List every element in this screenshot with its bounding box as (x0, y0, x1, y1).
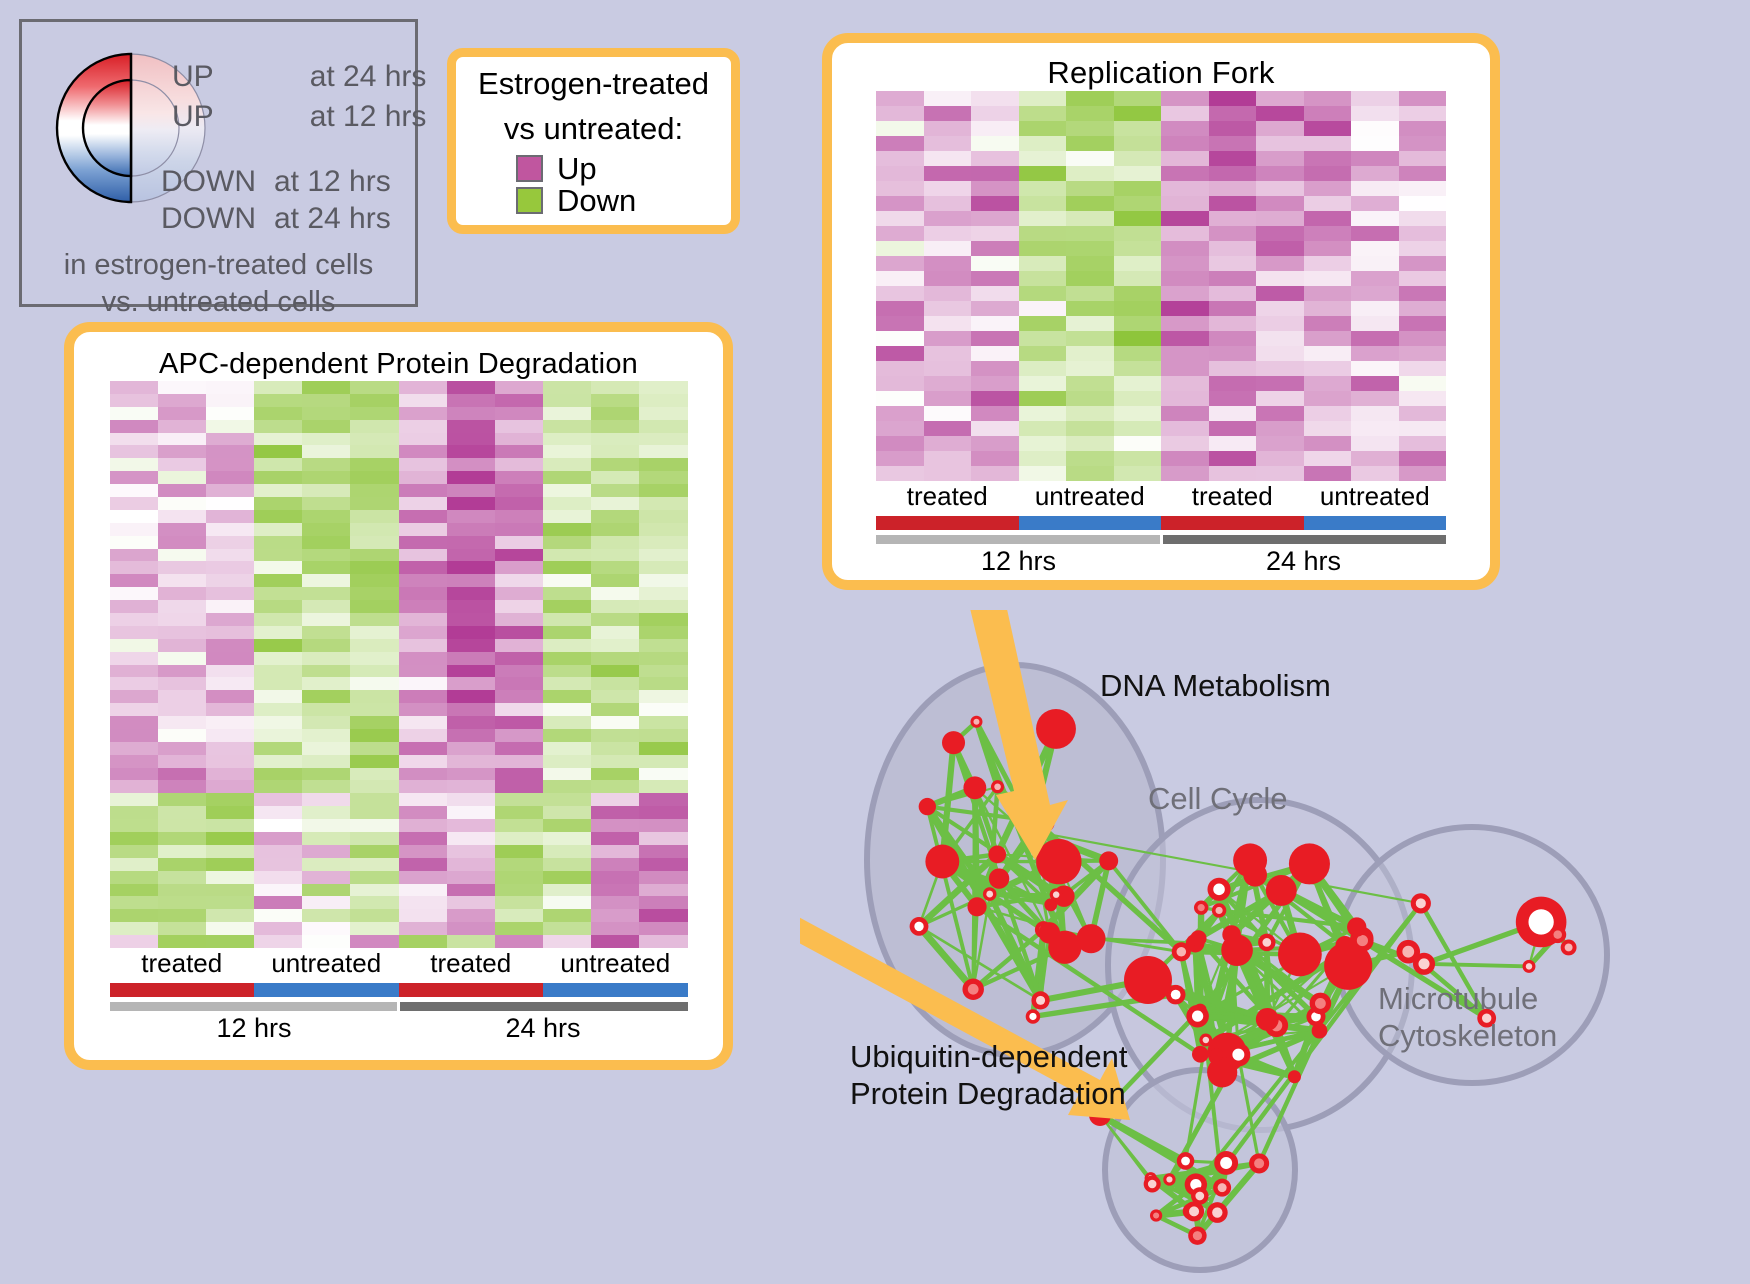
heatmap-cell (254, 420, 302, 433)
heatmap-cell (206, 523, 254, 536)
heatmap-cell (254, 896, 302, 909)
heatmap-cell (447, 716, 495, 729)
heatmap-cell (1066, 331, 1114, 346)
heatmap-cell (639, 935, 687, 948)
heatmap-cell (399, 652, 447, 665)
heatmap-cell (110, 652, 158, 665)
heatmap-cell (924, 421, 972, 436)
heatmap-cell (206, 626, 254, 639)
heatmap-cell (399, 703, 447, 716)
heatmap-cell (254, 510, 302, 523)
heatmap-cell (971, 301, 1019, 316)
heatmap-cell (1161, 331, 1209, 346)
heatmap-cell (1399, 136, 1447, 151)
heatmap-cell (158, 420, 206, 433)
heatmap-cell (350, 445, 398, 458)
heatmap-cell (158, 471, 206, 484)
heatmap-cell (924, 451, 972, 466)
heatmap-cell (350, 523, 398, 536)
heatmap-cell (639, 433, 687, 446)
heatmap-cell (1114, 91, 1162, 106)
heatmap-cell (924, 466, 972, 481)
heatmap-cell (1161, 91, 1209, 106)
heatmap-cell (302, 755, 350, 768)
heatmap-cell (495, 458, 543, 471)
heatmap-cell (1019, 226, 1067, 241)
heatmap-cell (1399, 211, 1447, 226)
heatmap-cell (110, 549, 158, 562)
heatmap-cell (399, 600, 447, 613)
heatmap-cell (302, 561, 350, 574)
heatmap-cell (1209, 391, 1257, 406)
heatmap-cell (158, 394, 206, 407)
heatmap-cell (110, 909, 158, 922)
heatmap-cell (350, 433, 398, 446)
heatmap-cell (876, 331, 924, 346)
heatmap-cell (1304, 301, 1352, 316)
heatmap-cell (158, 922, 206, 935)
network-node (988, 845, 1006, 863)
heatmap-apc-degradation (110, 381, 688, 948)
legend-term: DOWN (161, 165, 256, 199)
heatmap-cell (447, 510, 495, 523)
heatmap-cell (447, 806, 495, 819)
heatmap-cell (302, 665, 350, 678)
heatmap-cell (543, 639, 591, 652)
heatmap-cell (1256, 406, 1304, 421)
heatmap-cell (158, 523, 206, 536)
heatmap-cell (1066, 196, 1114, 211)
heatmap-cell (876, 451, 924, 466)
heatmap-cell (1351, 91, 1399, 106)
heatmap-cell (302, 806, 350, 819)
heatmap-cell (399, 484, 447, 497)
heatmap-cell (1399, 436, 1447, 451)
heatmap-cell (639, 600, 687, 613)
up-label: Up (557, 153, 597, 184)
heatmap-cell (543, 420, 591, 433)
heatmap-cell (1114, 451, 1162, 466)
heatmap-cell (447, 600, 495, 613)
heatmap-cell (1019, 151, 1067, 166)
heatmap-cell (971, 406, 1019, 421)
heatmap-cell (350, 536, 398, 549)
heatmap-cell (1019, 106, 1067, 121)
heatmap-cell (1351, 406, 1399, 421)
heatmap-cell (302, 729, 350, 742)
heatmap-cell (1114, 106, 1162, 121)
heatmap-cell (447, 549, 495, 562)
network-node (1288, 1070, 1301, 1083)
heatmap-cell (350, 729, 398, 742)
heatmap-cell (495, 677, 543, 690)
heatmap-cell (1304, 391, 1352, 406)
timepoint-label: 24 hrs (1161, 546, 1446, 577)
heatmap-cell (495, 871, 543, 884)
heatmap-cell (591, 536, 639, 549)
heatmap-cell (1304, 451, 1352, 466)
heatmap-cell (591, 471, 639, 484)
heatmap-cell (1161, 301, 1209, 316)
heatmap-cell (971, 331, 1019, 346)
heatmap-cell (1161, 151, 1209, 166)
heatmap-cell (1161, 181, 1209, 196)
heatmap-cell (399, 433, 447, 446)
heatmap-cell (1114, 436, 1162, 451)
heatmap-cell (591, 703, 639, 716)
heatmap-cell (495, 613, 543, 626)
heatmap-cell (639, 845, 687, 858)
heatmap-cell (495, 935, 543, 948)
heatmap-cell (591, 510, 639, 523)
heatmap-cell (591, 819, 639, 832)
legend-term: UP (172, 60, 214, 94)
heatmap-cell (447, 458, 495, 471)
heatmap-cell (302, 884, 350, 897)
network-node (1124, 956, 1172, 1004)
heatmap-cell (639, 665, 687, 678)
heatmap-cell (591, 755, 639, 768)
heatmap-cell (447, 832, 495, 845)
network-node (991, 780, 1004, 793)
heatmap-cell (110, 626, 158, 639)
heatmap-cell (1256, 166, 1304, 181)
legend-caption-line2: vs. untreated cells (22, 284, 415, 321)
heatmap-cell (591, 626, 639, 639)
network-node (1256, 1008, 1279, 1031)
network-node (1039, 922, 1061, 944)
heatmap-cell (254, 729, 302, 742)
heatmap-cell (543, 510, 591, 523)
heatmap-cell (1019, 331, 1067, 346)
heatmap-cell (447, 587, 495, 600)
heatmap-cell (1066, 301, 1114, 316)
heatmap-cell (971, 151, 1019, 166)
heatmap-cell (1066, 256, 1114, 271)
heatmap-cell (254, 497, 302, 510)
network-node (1396, 940, 1420, 964)
network-node (1036, 839, 1081, 884)
network-node (1258, 934, 1275, 951)
network-node (989, 868, 1009, 888)
heatmap-cell (495, 793, 543, 806)
heatmap-cell (206, 420, 254, 433)
heatmap-cell (254, 433, 302, 446)
heatmap-cell (543, 574, 591, 587)
heatmap-cell (1351, 316, 1399, 331)
heatmap-cell (543, 497, 591, 510)
heatmap-cell (495, 819, 543, 832)
heatmap-cell (495, 716, 543, 729)
heatmap-cell (254, 652, 302, 665)
heatmap-cell (206, 716, 254, 729)
heatmap-cell (350, 832, 398, 845)
heatmap-cell (350, 909, 398, 922)
heatmap-cell (1256, 361, 1304, 376)
cluster-label-microtubule-cytoskeleton: Microtubule Cytoskeleton (1378, 980, 1557, 1054)
heatmap-cell (1351, 346, 1399, 361)
heatmap-cell (302, 742, 350, 755)
heatmap-cell (971, 136, 1019, 151)
heatmap-cell (639, 587, 687, 600)
heatmap-cell (639, 381, 687, 394)
heatmap-cell (1399, 271, 1447, 286)
heatmap-cell (543, 768, 591, 781)
heatmap-cell (543, 703, 591, 716)
heatmap-cell (1399, 181, 1447, 196)
heatmap-cell (302, 394, 350, 407)
heatmap-cell (110, 884, 158, 897)
heatmap-cell (158, 665, 206, 678)
heatmap-cell (447, 780, 495, 793)
heatmap-cell (971, 226, 1019, 241)
heatmap-cell (1066, 91, 1114, 106)
heatmap-cell (1304, 241, 1352, 256)
heatmap-cell (254, 626, 302, 639)
heatmap-cell (110, 639, 158, 652)
heatmap-cell (591, 845, 639, 858)
heatmap-cell (302, 716, 350, 729)
heatmap-cell (876, 406, 924, 421)
heatmap-cell (399, 420, 447, 433)
heatmap-cell (447, 613, 495, 626)
network-node (967, 897, 986, 916)
heatmap-cell (206, 819, 254, 832)
heatmap-cell (110, 806, 158, 819)
key-item-down: Down (516, 185, 731, 216)
estrogen-treatment-key: Estrogen-treated vs untreated: Up Down (447, 48, 740, 234)
heatmap-cell (254, 806, 302, 819)
heatmap-cell (1019, 136, 1067, 151)
heatmap-cell (302, 703, 350, 716)
heatmap-cell (591, 716, 639, 729)
heatmap-cell (399, 458, 447, 471)
heatmap-cell (1399, 241, 1447, 256)
heatmap-cell (1256, 181, 1304, 196)
heatmap-cell (158, 549, 206, 562)
heatmap-cell (254, 600, 302, 613)
heatmap-cell (206, 471, 254, 484)
heatmap-cell (350, 845, 398, 858)
heatmap-cell (876, 361, 924, 376)
heatmap-cell (1351, 211, 1399, 226)
heatmap-cell (1114, 331, 1162, 346)
heatmap-cell (399, 381, 447, 394)
cluster-label-dna-metabolism: DNA Metabolism (1100, 668, 1331, 704)
heatmap-cell (543, 716, 591, 729)
heatmap-cell (158, 652, 206, 665)
heatmap-cell (350, 458, 398, 471)
panel-apc-dependent-protein-degradation: APC-dependent Protein Degradation treate… (64, 322, 733, 1070)
heatmap-cell (206, 497, 254, 510)
heatmap-cell (110, 458, 158, 471)
heatmap-cell (254, 445, 302, 458)
heatmap-cell (447, 845, 495, 858)
heatmap-cell (591, 871, 639, 884)
heatmap-cell (350, 871, 398, 884)
heatmap-cell (158, 832, 206, 845)
heatmap-cell (1066, 151, 1114, 166)
heatmap-cell (543, 884, 591, 897)
heatmap-cell (158, 677, 206, 690)
heatmap-cell (495, 652, 543, 665)
heatmap-cell (447, 626, 495, 639)
heatmap-cell (924, 106, 972, 121)
heatmap-cell (399, 394, 447, 407)
heatmap-cell (158, 793, 206, 806)
heatmap-cell (591, 909, 639, 922)
heatmap-cell (1209, 211, 1257, 226)
heatmap-cell (350, 755, 398, 768)
network-node (1523, 960, 1536, 973)
heatmap-cell (1066, 406, 1114, 421)
heatmap-cell (591, 549, 639, 562)
heatmap-cell (1256, 151, 1304, 166)
timepoint-bar (876, 535, 1160, 544)
heatmap-cell (924, 241, 972, 256)
network-node (1036, 709, 1076, 749)
heatmap-cell (543, 845, 591, 858)
heatmap-cell (399, 909, 447, 922)
heatmap-cell (254, 394, 302, 407)
heatmap-cell (110, 484, 158, 497)
heatmap-cell (1399, 361, 1447, 376)
heatmap-cell (1304, 286, 1352, 301)
heatmap-cell (399, 587, 447, 600)
heatmap-cell (1351, 436, 1399, 451)
heatmap-cell (110, 935, 158, 948)
heatmap-cell (591, 806, 639, 819)
condition-bar (399, 983, 544, 997)
heatmap-cell (543, 665, 591, 678)
heatmap-cell (206, 677, 254, 690)
heatmap-cell (447, 665, 495, 678)
network-node (1184, 1201, 1204, 1221)
heatmap-cell (206, 639, 254, 652)
heatmap-cell (495, 884, 543, 897)
heatmap-cell (1209, 256, 1257, 271)
down-color-swatch (516, 187, 543, 214)
heatmap-cell (971, 316, 1019, 331)
heatmap-cell (543, 896, 591, 909)
heatmap-cell (1256, 241, 1304, 256)
heatmap-cell (158, 768, 206, 781)
heatmap-cell (1209, 331, 1257, 346)
heatmap-cell (876, 91, 924, 106)
heatmap-cell (1114, 166, 1162, 181)
heatmap-cell (971, 436, 1019, 451)
network-node (1194, 900, 1208, 914)
heatmap-cell (1304, 151, 1352, 166)
network-node (1213, 1179, 1231, 1197)
heatmap-cell (1019, 286, 1067, 301)
network-node (1199, 1034, 1212, 1047)
heatmap-cell (1114, 211, 1162, 226)
heatmap-cell (1304, 121, 1352, 136)
heatmap-cell (158, 935, 206, 948)
heatmap-cell (1256, 211, 1304, 226)
heatmap-cell (924, 286, 972, 301)
heatmap-cell (543, 922, 591, 935)
heatmap-cell (399, 832, 447, 845)
heatmap-cell (876, 151, 924, 166)
heatmap-cell (206, 549, 254, 562)
heatmap-cell (254, 561, 302, 574)
heatmap-cell (1114, 301, 1162, 316)
heatmap-cell (158, 871, 206, 884)
network-node (1207, 878, 1230, 901)
network-node (1411, 893, 1431, 913)
heatmap-cell (350, 922, 398, 935)
condition-color-bars-replication (876, 516, 1446, 530)
condition-label: treated (1161, 481, 1304, 512)
heatmap-cell (971, 361, 1019, 376)
heatmap-cell (302, 871, 350, 884)
heatmap-cell (110, 780, 158, 793)
heatmap-cell (591, 832, 639, 845)
heatmap-cell (350, 587, 398, 600)
heatmap-cell (1351, 256, 1399, 271)
heatmap-cell (350, 780, 398, 793)
heatmap-cell (1066, 121, 1114, 136)
heatmap-cell (110, 677, 158, 690)
heatmap-cell (1066, 436, 1114, 451)
heatmap-cell (591, 690, 639, 703)
network-node (1222, 925, 1241, 944)
heatmap-cell (447, 574, 495, 587)
heatmap-cell (447, 536, 495, 549)
heatmap-cell (302, 909, 350, 922)
heatmap-cell (1209, 376, 1257, 391)
heatmap-cell (1209, 286, 1257, 301)
heatmap-cell (254, 819, 302, 832)
heatmap-cell (1066, 136, 1114, 151)
heatmap-cell (399, 523, 447, 536)
heatmap-cell (206, 884, 254, 897)
heatmap-cell (495, 445, 543, 458)
heatmap-cell (158, 729, 206, 742)
heatmap-cell (924, 331, 972, 346)
timepoint-labels-apc: 12 hrs24 hrs (110, 1013, 688, 1044)
timepoint-label: 24 hrs (399, 1013, 688, 1044)
heatmap-cell (1256, 196, 1304, 211)
heatmap-cell (971, 391, 1019, 406)
heatmap-cell (1161, 211, 1209, 226)
heatmap-cell (543, 677, 591, 690)
network-node (1172, 942, 1191, 961)
down-label: Down (557, 185, 636, 216)
network-node (962, 978, 983, 999)
heatmap-cell (543, 871, 591, 884)
heatmap-cell (110, 819, 158, 832)
heatmap-cell (1019, 391, 1067, 406)
heatmap-cell (971, 106, 1019, 121)
heatmap-cell (350, 884, 398, 897)
heatmap-cell (254, 574, 302, 587)
heatmap-cell (543, 819, 591, 832)
heatmap-cell (1209, 301, 1257, 316)
heatmap-cell (543, 471, 591, 484)
heatmap-cell (206, 433, 254, 446)
heatmap-cell (447, 652, 495, 665)
heatmap-cell (110, 896, 158, 909)
heatmap-cell (1351, 136, 1399, 151)
heatmap-cell (1066, 286, 1114, 301)
heatmap-cell (1209, 436, 1257, 451)
heatmap-cell (1114, 361, 1162, 376)
network-node (1099, 851, 1118, 870)
heatmap-cell (876, 436, 924, 451)
